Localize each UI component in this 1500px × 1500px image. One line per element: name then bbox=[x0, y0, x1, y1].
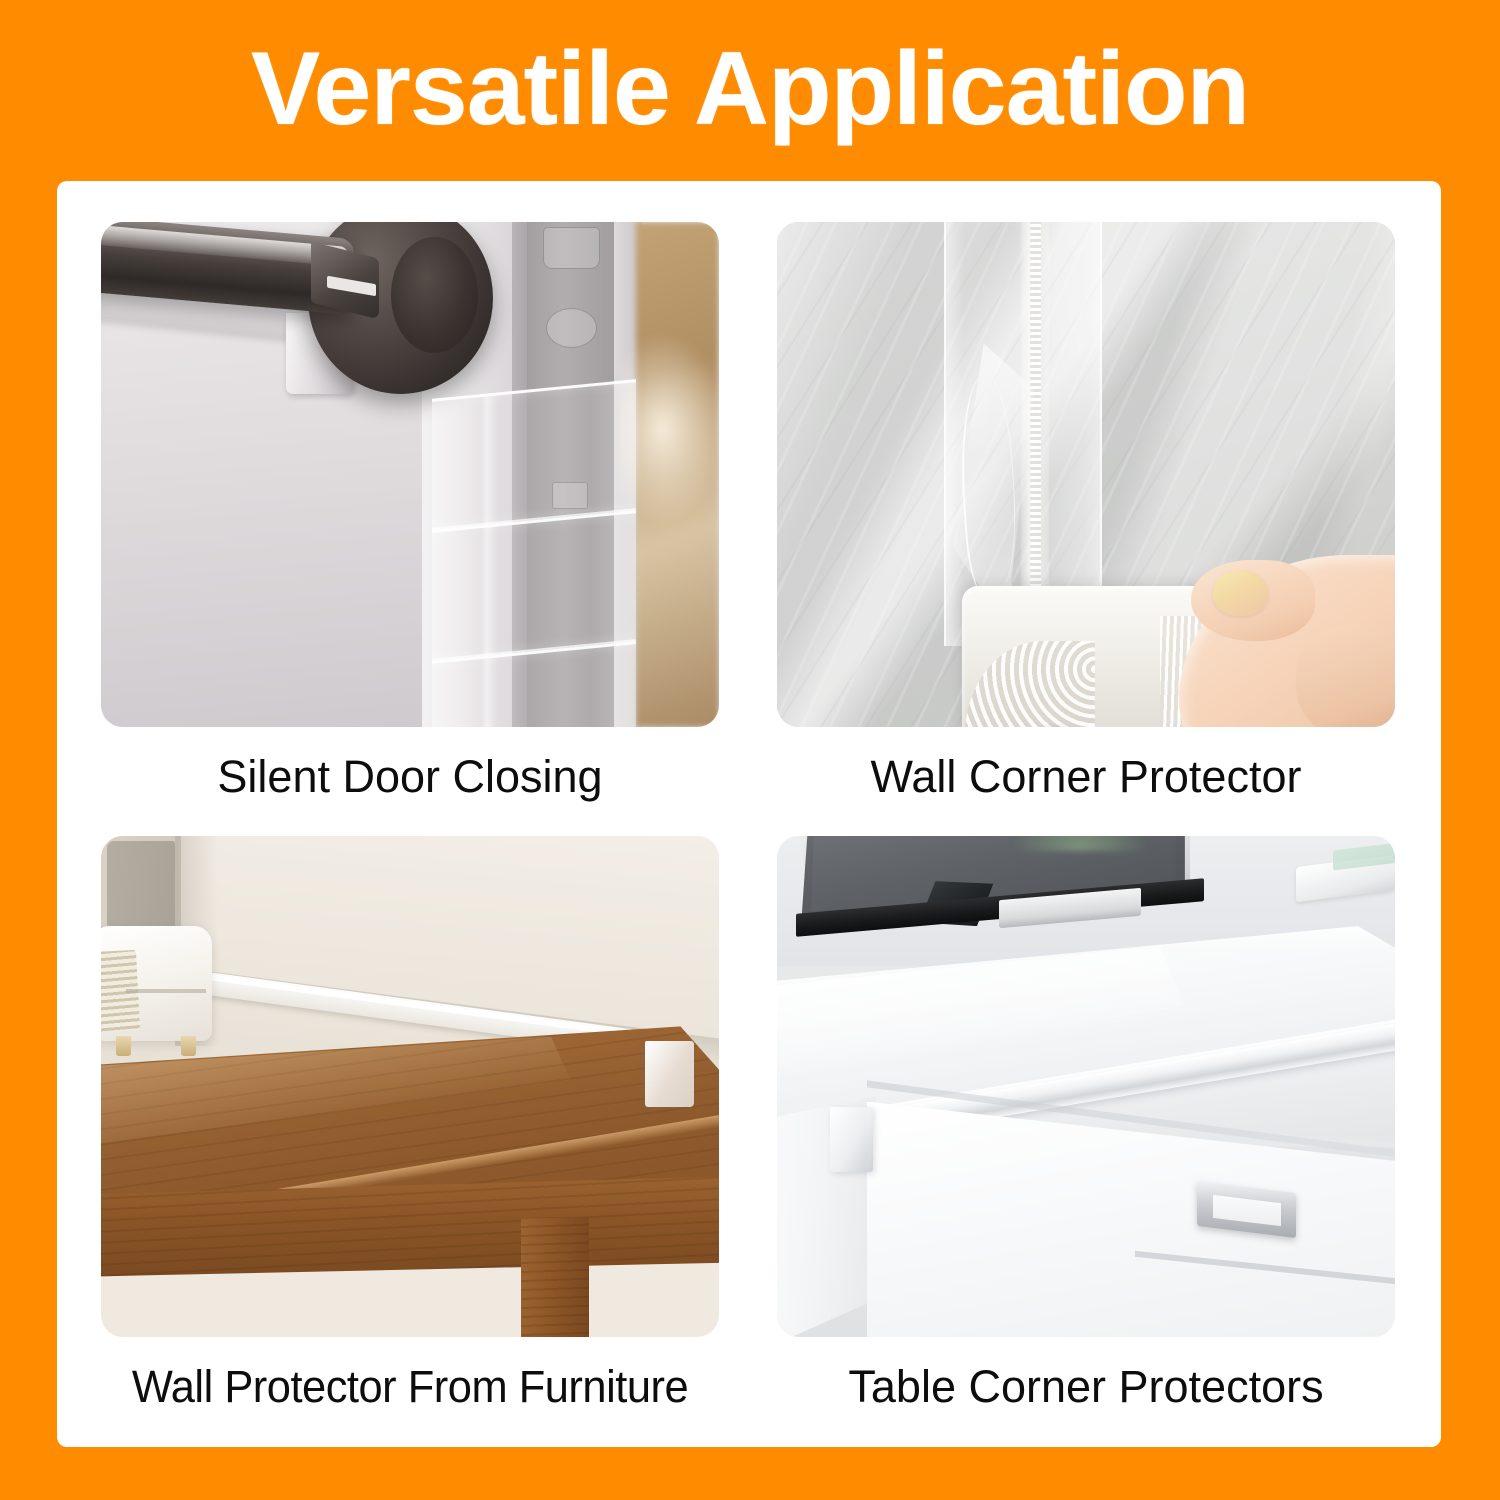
finger bbox=[1296, 626, 1395, 727]
feature-card-silent-door-closing[interactable]: Silent Door Closing bbox=[101, 222, 719, 727]
feature-caption: Silent Door Closing bbox=[61, 749, 759, 805]
feature-caption: Wall Protector From Furniture bbox=[73, 1359, 747, 1415]
wood-grain bbox=[521, 1217, 589, 1337]
protector-strip-end-cap bbox=[645, 1041, 694, 1106]
feature-card-wall-protector-from-furniture[interactable]: Wall Protector From Furniture bbox=[101, 836, 719, 1337]
feature-caption: Wall Corner Protector bbox=[737, 749, 1435, 805]
edge-protector-end-cap bbox=[830, 1107, 873, 1172]
fingernail bbox=[1213, 570, 1269, 615]
door-closing-photo bbox=[101, 222, 719, 727]
feature-grid: Silent Door Closing bbox=[57, 181, 1441, 1447]
feature-caption: Table Corner Protectors bbox=[737, 1359, 1435, 1415]
page-title: Versatile Application bbox=[0, 26, 1500, 152]
door-handle-rose-inner bbox=[391, 237, 478, 353]
room-background bbox=[636, 222, 719, 727]
product-infographic: Versatile Application bbox=[0, 0, 1500, 1500]
tv-screen-glow bbox=[1012, 836, 1148, 851]
humidifier-foot bbox=[116, 1036, 130, 1056]
table-corner-photo bbox=[777, 836, 1395, 1337]
feature-card-wall-corner-protector[interactable]: Wall Corner Protector bbox=[777, 222, 1395, 727]
corner-protector-strip bbox=[432, 379, 636, 530]
content-panel: Silent Door Closing bbox=[57, 181, 1441, 1447]
feature-card-table-corner-protectors[interactable]: Table Corner Protectors bbox=[777, 836, 1395, 1337]
door-hardware-plate bbox=[543, 227, 601, 269]
door-hardware-knob bbox=[546, 308, 597, 348]
wood-grain bbox=[101, 1177, 719, 1277]
humidifier-seam bbox=[126, 989, 206, 993]
humidifier-foot bbox=[181, 1036, 195, 1056]
furniture-wall-photo bbox=[101, 836, 719, 1337]
corner-protector-strip bbox=[432, 510, 636, 661]
wall-corner-photo bbox=[777, 222, 1395, 727]
